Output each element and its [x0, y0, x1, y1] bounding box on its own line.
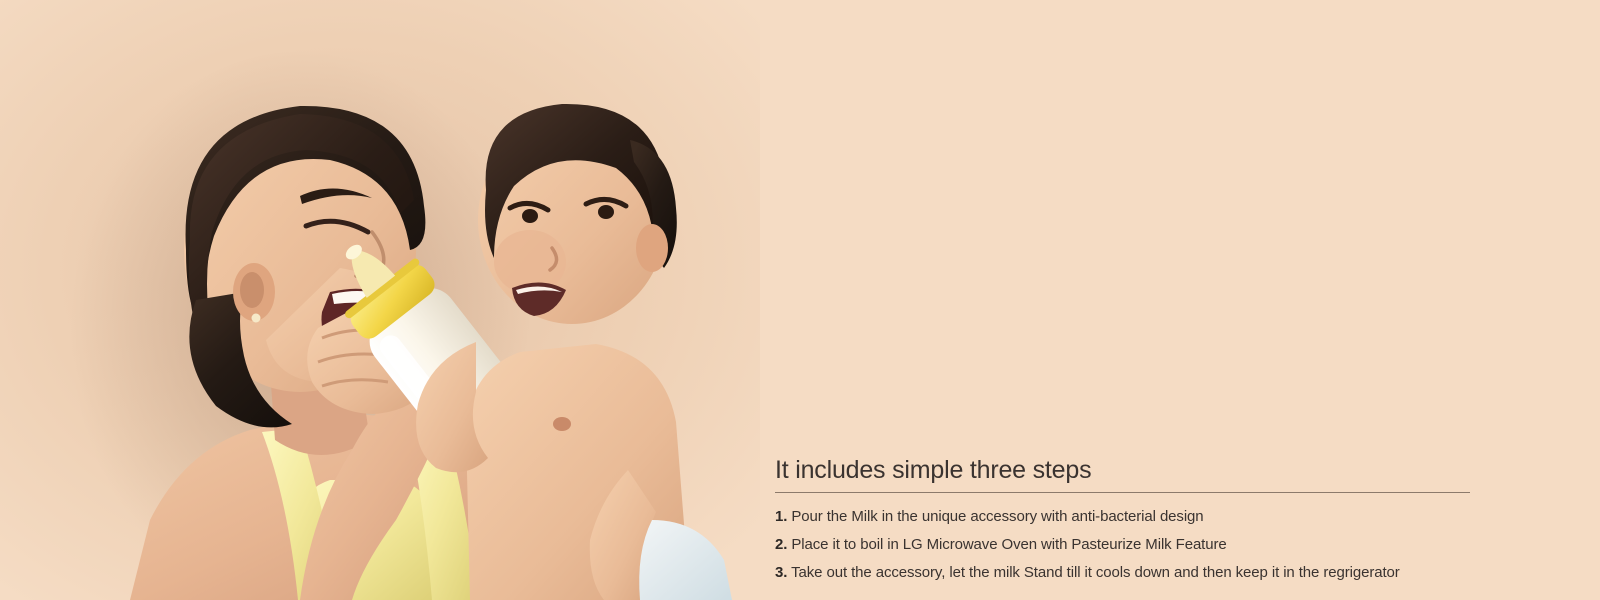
steps-list: 1. Pour the Milk in the unique accessory… — [775, 503, 1475, 587]
mother-ear-inner — [240, 272, 264, 308]
step-item: 3. Take out the accessory, let the milk … — [775, 559, 1475, 587]
step-text: Pour the Milk in the unique accessory wi… — [791, 508, 1203, 525]
step-item: 2. Place it to boil in LG Microwave Oven… — [775, 531, 1475, 559]
baby-pupil-left — [522, 209, 538, 223]
baby-nipple — [553, 417, 571, 431]
baby-pupil-right — [598, 205, 614, 219]
step-number: 3. — [775, 564, 787, 581]
step-number: 2. — [775, 536, 787, 553]
step-text: Place it to boil in LG Microwave Oven wi… — [791, 536, 1226, 553]
promo-banner: It includes simple three steps 1. Pour t… — [0, 0, 1600, 600]
step-item: 1. Pour the Milk in the unique accessory… — [775, 503, 1475, 531]
baby-ear — [636, 224, 668, 272]
hero-photo — [0, 0, 760, 600]
step-number: 1. — [775, 508, 787, 525]
mother-and-baby-illustration — [0, 0, 760, 600]
steps-divider — [775, 492, 1470, 493]
steps-heading: It includes simple three steps — [775, 455, 1475, 492]
steps-panel: It includes simple three steps 1. Pour t… — [775, 455, 1475, 587]
mother-earring — [252, 314, 261, 323]
step-text: Take out the accessory, let the milk Sta… — [791, 564, 1400, 581]
